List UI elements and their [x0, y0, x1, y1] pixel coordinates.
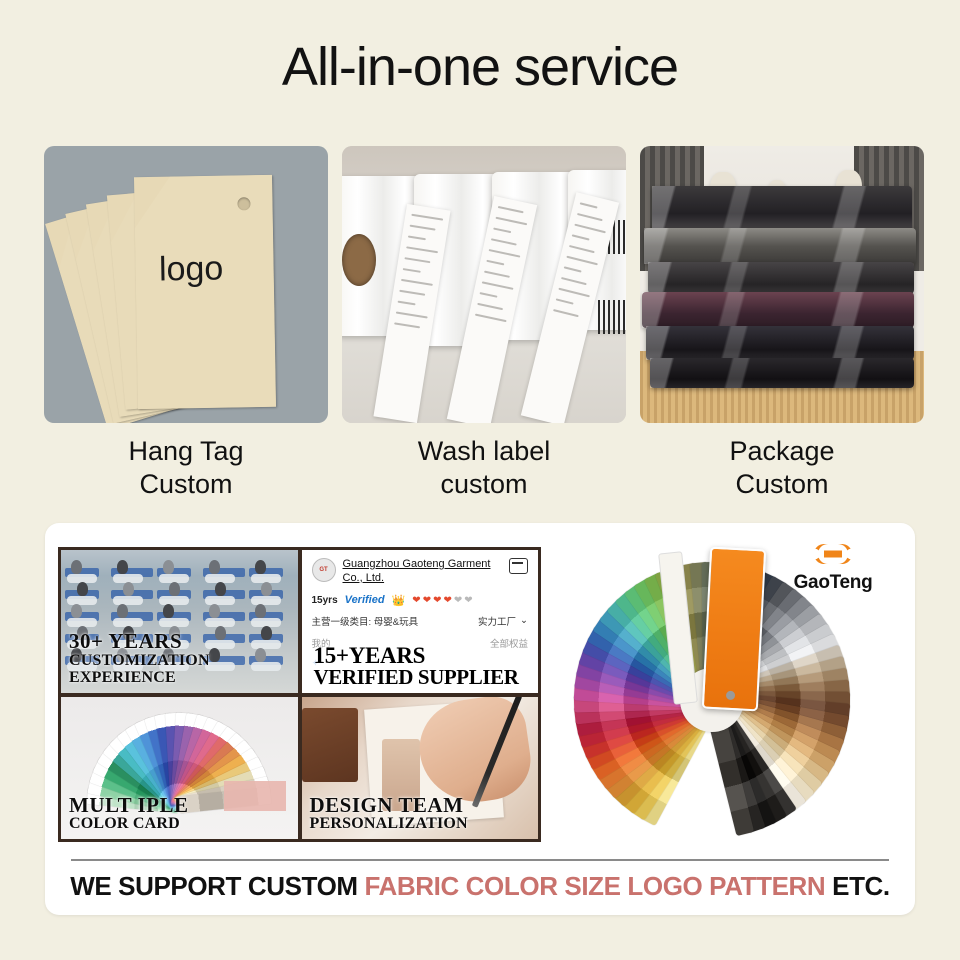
support-suffix: ETC.	[832, 871, 890, 901]
collage-quad-supplier-card[interactable]: GT Guangzhou Gaoteng Garment Co., Ltd. 1…	[302, 550, 539, 693]
color-card-caption: MULT IPLE COLOR CARD	[69, 795, 292, 833]
storefront-icon[interactable]	[509, 558, 528, 574]
factory-tag: 实力工厂	[478, 614, 516, 628]
bottom-panel: 30+ YEARS CUSTOMIZATION EXPERIENCE GT Gu…	[45, 523, 915, 915]
years-badge: 15yrs	[312, 595, 338, 606]
capability-collage: 30+ YEARS CUSTOMIZATION EXPERIENCE GT Gu…	[58, 547, 541, 842]
collage-quad-color-card[interactable]: MULT IPLE COLOR CARD	[61, 697, 298, 840]
leather-swatch	[302, 708, 359, 782]
caption-line-2: custom	[342, 468, 626, 501]
caption-line-1: Wash label	[342, 435, 626, 468]
design-caption-big: DESIGN TEAM	[310, 795, 533, 817]
barcode-icon	[598, 300, 626, 334]
supplier-overlay-caption: 15+YEARS VERIFIED SUPPLIER	[314, 644, 533, 689]
factory-caption: 30+ YEARS CUSTOMIZATION EXPERIENCE	[69, 631, 292, 686]
rating-hearts: ❤ ❤ ❤ ❤ ❤ ❤	[412, 595, 472, 606]
brand-name: GaoTeng	[773, 572, 893, 594]
wash-label-caption: Wash label custom	[342, 435, 626, 501]
collage-quad-factory[interactable]: 30+ YEARS CUSTOMIZATION EXPERIENCE	[61, 550, 298, 693]
design-caption-small: PERSONALIZATION	[310, 816, 533, 833]
caption-line-2: Custom	[44, 468, 328, 501]
brand-logo: GaoTeng	[773, 537, 893, 594]
company-logo-icon: GT	[312, 558, 336, 582]
package-image	[640, 146, 924, 423]
poly-bag	[646, 326, 914, 360]
heart-icon: ❤	[454, 595, 462, 606]
poly-bag	[652, 186, 912, 232]
support-prefix: WE SUPPORT CUSTOM	[70, 871, 357, 901]
caption-line-1: Package	[640, 435, 924, 468]
supplier-overlay-big: 15+YEARS	[314, 644, 533, 667]
poly-bag	[650, 358, 914, 388]
heart-icon: ❤	[423, 595, 431, 606]
hang-tag-image: logo	[44, 146, 328, 423]
color-card-caption-big: MULT IPLE	[69, 795, 292, 817]
crown-icon: 👑	[392, 594, 406, 607]
hang-tag-sheet-front	[134, 175, 276, 409]
support-line: WE SUPPORT CUSTOM FABRIC COLOR SIZE LOGO…	[45, 871, 915, 902]
support-highlight: FABRIC COLOR SIZE LOGO PATTERN	[364, 871, 825, 901]
category-label: 主营一级类目: 母婴&玩具	[312, 614, 419, 628]
poly-bag	[648, 262, 914, 294]
service-card-package[interactable]: Package Custom	[640, 146, 924, 491]
color-card-caption-small: COLOR CARD	[69, 816, 292, 833]
chevron-down-icon[interactable]: ⌄	[520, 615, 528, 626]
factory-caption-big: 30+ YEARS	[69, 631, 292, 653]
service-cards: logo Hang Tag Custom	[44, 146, 924, 491]
wash-label-image	[342, 146, 626, 423]
poly-bag	[644, 228, 916, 264]
verified-badge: Verified	[345, 594, 385, 606]
tag-logo-text: logo	[159, 249, 224, 289]
poly-bag	[642, 292, 914, 328]
service-card-hang-tag[interactable]: logo Hang Tag Custom	[44, 146, 328, 491]
package-caption: Package Custom	[640, 435, 924, 501]
interlocking-links-icon	[773, 537, 893, 571]
company-name[interactable]: Guangzhou Gaoteng Garment Co., Ltd.	[343, 558, 503, 586]
divider	[71, 859, 889, 861]
heart-icon: ❤	[443, 595, 451, 606]
orange-swatch-card	[702, 546, 766, 711]
design-team-caption: DESIGN TEAM PERSONALIZATION	[310, 795, 533, 833]
heart-icon: ❤	[433, 595, 441, 606]
service-card-wash-label[interactable]: Wash label custom	[342, 146, 626, 491]
caption-line-1: Hang Tag	[44, 435, 328, 468]
factory-caption-small: CUSTOMIZATION EXPERIENCE	[69, 653, 292, 686]
hang-tag-caption: Hang Tag Custom	[44, 435, 328, 501]
collage-quad-design-team[interactable]: DESIGN TEAM PERSONALIZATION	[302, 697, 539, 840]
heart-icon: ❤	[412, 595, 420, 606]
supplier-overlay-small: VERIFIED SUPPLIER	[314, 667, 533, 688]
page-title: All-in-one service	[0, 36, 960, 98]
caption-line-2: Custom	[640, 468, 924, 501]
heart-icon: ❤	[464, 595, 472, 606]
